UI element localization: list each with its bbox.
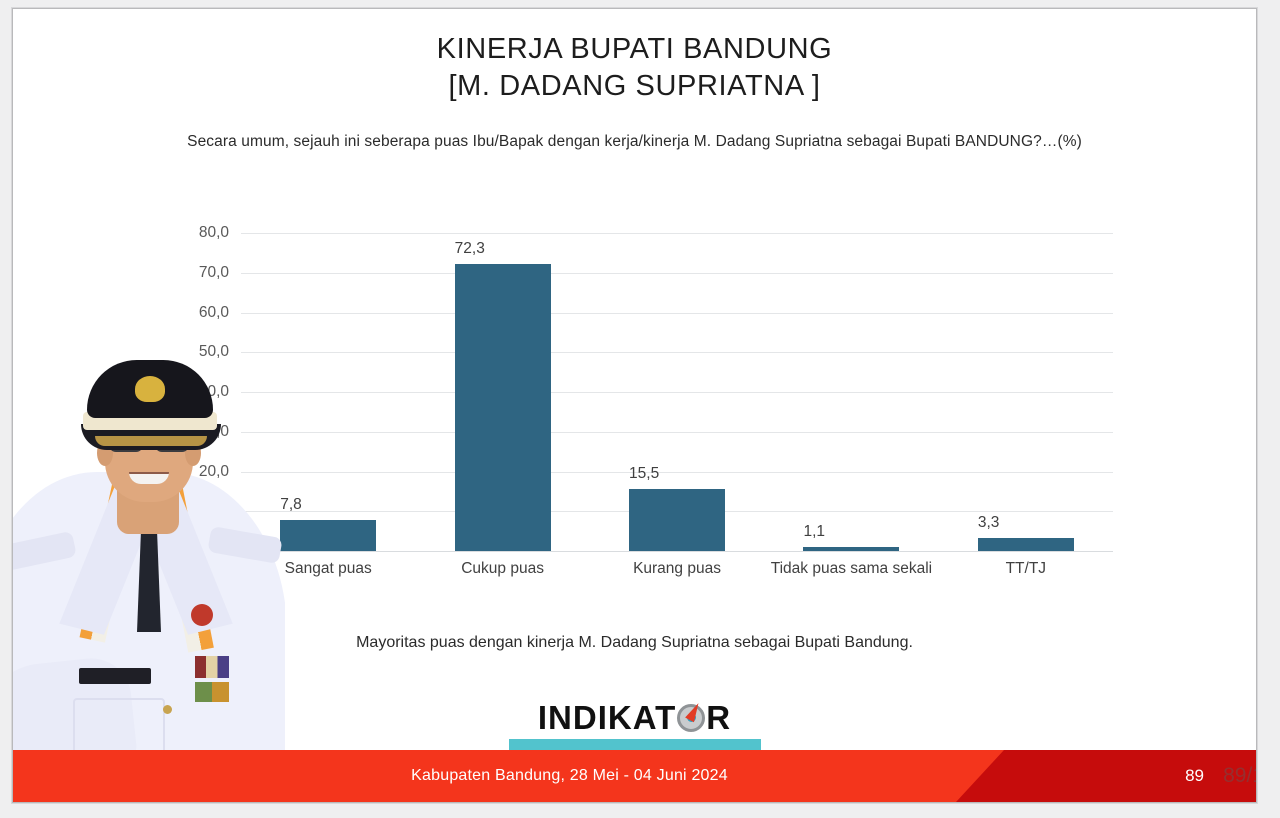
y-axis-tick-label: 20,0 [199,463,229,481]
bar-value-label: 3,3 [978,514,1000,532]
title-line-1: KINERJA BUPATI BANDUNG [13,31,1256,68]
eyeglass-left [109,427,143,452]
conclusion-text: Mayoritas puas dengan kinerja M. Dadang … [13,634,1256,652]
slide: KINERJA BUPATI BANDUNG [M. DADANG SUPRIA… [12,8,1257,803]
compass-target-icon [677,704,705,732]
bar-group: 72,3Cukup puas [415,233,589,551]
indikator-logo: INDIKAT R [509,701,761,752]
bar-value-label: 15,5 [629,465,659,483]
page-indicator-overlay: 89/1 [1223,764,1257,788]
gridline: 0,0 [241,551,1113,552]
y-axis-tick-label: 0,0 [207,542,229,560]
x-axis-category-label: TT/TJ [912,559,1139,579]
bar-group: 15,5Kurang puas [590,233,764,551]
bar[interactable]: 1,1 [803,547,899,551]
bar[interactable]: 15,5 [629,489,725,551]
bar[interactable]: 3,3 [978,538,1074,551]
bar-value-label: 7,8 [280,496,302,514]
medal-ribbon-top [195,656,229,678]
ear-left [97,440,113,466]
sash-left [80,451,145,642]
y-axis-tick-label: 70,0 [199,264,229,282]
bar-chart: 80,070,060,050,040,030,020,010,00,0 7,8S… [163,209,1123,559]
eyeglass-bridge [142,438,156,441]
necktie [137,522,161,632]
y-axis-tick-label: 60,0 [199,304,229,322]
y-axis-tick-label: 30,0 [199,423,229,441]
medal-ribbon-bottom [195,682,229,702]
bar-group: 3,3TT/TJ [939,233,1113,551]
plot-area: 80,070,060,050,040,030,020,010,00,0 7,8S… [241,233,1113,551]
logo-wordmark: INDIKAT R [509,701,761,734]
y-axis-tick-label: 50,0 [199,343,229,361]
bar-value-label: 1,1 [803,523,825,541]
y-axis-tick-label: 10,0 [199,502,229,520]
y-axis-tick-label: 80,0 [199,224,229,242]
compass-needle-icon [685,700,703,721]
bar-group: 1,1Tidak puas sama sekali [764,233,938,551]
slide-footer: Kabupaten Bandung, 28 Mei - 04 Juni 2024… [13,750,1256,802]
bar[interactable]: 7,8 [280,520,376,551]
title-line-2: [M. DADANG SUPRIATNA ] [13,68,1256,105]
shoulder-board-left [13,531,77,571]
name-tag [79,668,151,684]
lapel-left [59,483,160,635]
chest-badge [191,604,213,626]
y-axis-tick-label: 40,0 [199,383,229,401]
bar-group: 7,8Sangat puas [241,233,415,551]
logo-text-before: INDIKAT [538,701,676,734]
footer-caption: Kabupaten Bandung, 28 Mei - 04 Juni 2024 [13,750,1256,802]
survey-question: Secara umum, sejauh ini seberapa puas Ib… [13,133,1256,151]
bar-value-label: 72,3 [455,240,485,258]
garuda-emblem-icon [135,376,165,402]
page-number: 89 [1185,766,1204,786]
slide-title: KINERJA BUPATI BANDUNG [M. DADANG SUPRIA… [13,31,1256,105]
logo-text-after: R [706,701,731,734]
bar[interactable]: 72,3 [455,264,551,551]
uniform-button-top [163,705,172,714]
bar-series: 7,8Sangat puas72,3Cukup puas15,5Kurang p… [241,233,1113,551]
